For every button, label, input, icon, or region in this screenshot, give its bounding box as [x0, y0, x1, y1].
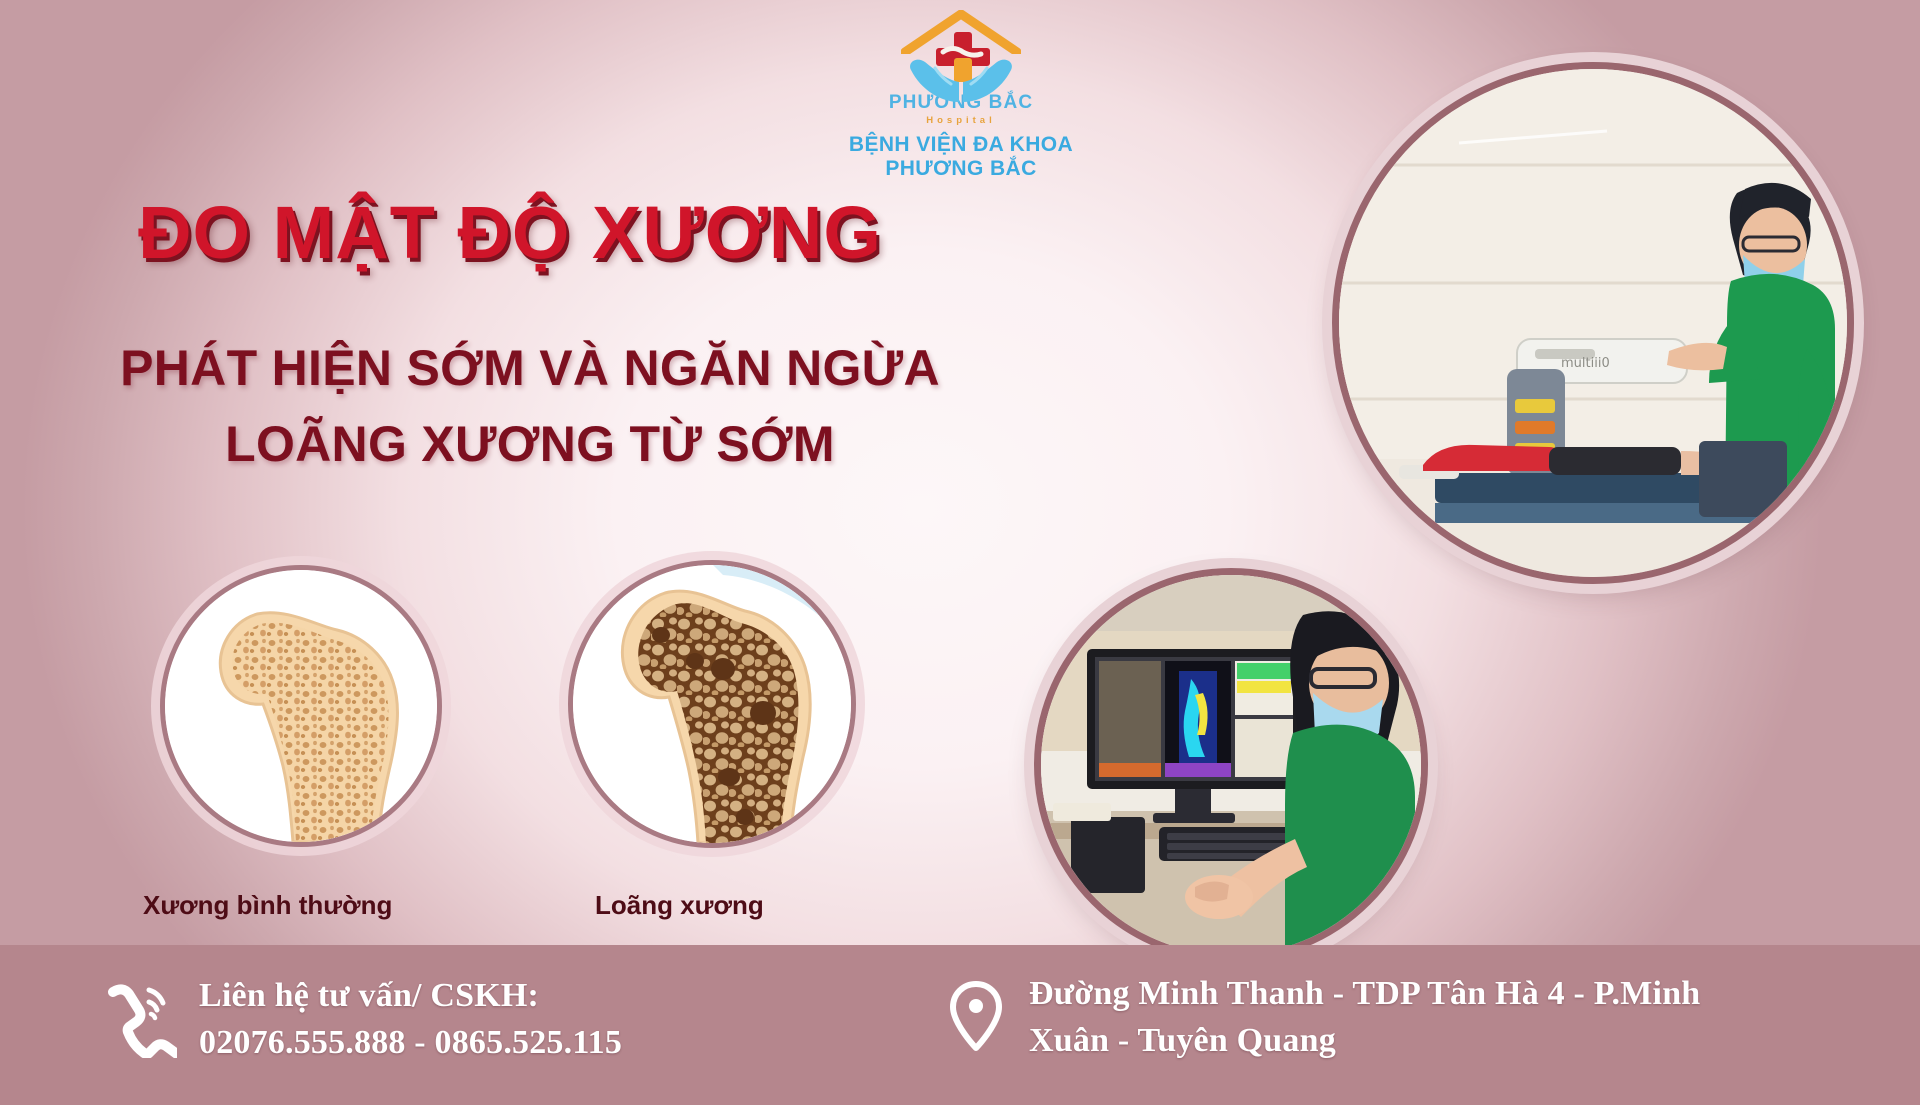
- logo-subtitle: Hospital: [926, 115, 995, 126]
- workstation-scene-icon: [1041, 575, 1421, 955]
- address-line1: Đường Minh Thanh - TDP Tân Hà 4 - P.Minh: [1029, 975, 1700, 1012]
- address-line2: Xuân - Tuyên Quang: [1029, 1018, 1700, 1065]
- svg-text:multiii0: multiii0: [1561, 356, 1610, 371]
- normal-bone-illustration: [160, 565, 442, 847]
- dxa-scanner-photo: multiii0: [1332, 62, 1854, 584]
- dxa-workstation-photo: [1034, 568, 1428, 962]
- phone-contact[interactable]: Liên hệ tư vấn/ CSKH: 02076.555.888 - 08…: [105, 973, 622, 1067]
- phone-icon: [105, 982, 177, 1058]
- location-pin-icon: [945, 978, 1007, 1058]
- page-subtitle: PHÁT HIỆN SỚM VÀ NGĂN NGỪA LOÃNG XƯƠNG T…: [0, 330, 1060, 482]
- osteoporotic-bone-illustration: [568, 560, 856, 848]
- house-cross-hands-logo-icon: [895, 6, 1027, 95]
- organization-name-line1: BỆNH VIỆN ĐA KHOA: [849, 133, 1073, 158]
- page-subtitle-line2: LOÃNG XƯƠNG TỪ SỚM: [0, 406, 1060, 482]
- address-text: Đường Minh Thanh - TDP Tân Hà 4 - P.Minh…: [1029, 971, 1700, 1065]
- address-contact[interactable]: Đường Minh Thanh - TDP Tân Hà 4 - P.Minh…: [945, 971, 1700, 1065]
- phone-label: Liên hệ tư vấn/ CSKH:: [199, 977, 539, 1014]
- phone-numbers: 02076.555.888 - 0865.525.115: [199, 1020, 622, 1067]
- contact-footer: Liên hệ tư vấn/ CSKH: 02076.555.888 - 08…: [0, 945, 1920, 1105]
- caring-hands-icon: [901, 50, 1021, 106]
- phone-text: Liên hệ tư vấn/ CSKH: 02076.555.888 - 08…: [199, 973, 622, 1067]
- promo-banner: PHƯƠNG BẮC Hospital BỆNH VIỆN ĐA KHOA PH…: [0, 0, 1920, 1105]
- normal-bone-label: Xương bình thường: [143, 890, 392, 921]
- osteoporotic-femur-icon: [573, 565, 851, 843]
- normal-femur-icon: [165, 570, 437, 842]
- osteoporotic-bone-label: Loãng xương: [595, 890, 764, 921]
- organization-name: BỆNH VIỆN ĐA KHOA PHƯƠNG BẮC: [849, 133, 1073, 182]
- hospital-logo: PHƯƠNG BẮC Hospital BỆNH VIỆN ĐA KHOA PH…: [843, 6, 1079, 182]
- page-title: ĐO MẬT ĐỘ XƯƠNG: [0, 196, 1020, 270]
- scanner-room-scene-icon: multiii0: [1339, 69, 1847, 577]
- organization-name-line2: PHƯƠNG BẮC: [849, 157, 1073, 182]
- page-subtitle-line1: PHÁT HIỆN SỚM VÀ NGĂN NGỪA: [0, 330, 1060, 406]
